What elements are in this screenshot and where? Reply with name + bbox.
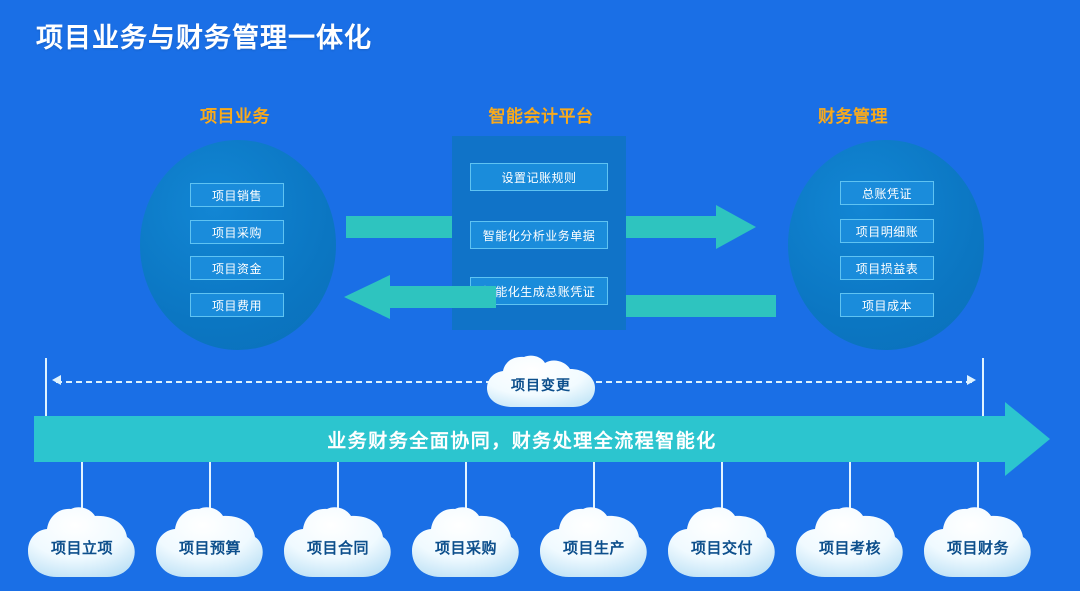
chip-set-bookkeeping-rules[interactable]: 设置记账规则 <box>470 163 608 191</box>
project-change-cloud[interactable]: 项目变更 <box>483 355 599 409</box>
lifecycle-cloud-procurement[interactable]: 项目采购 <box>409 505 523 579</box>
chip-project-sales[interactable]: 项目销售 <box>190 183 284 207</box>
chip-general-ledger-voucher[interactable]: 总账凭证 <box>840 181 934 205</box>
lifecycle-cloud-initiation[interactable]: 项目立项 <box>25 505 139 579</box>
chip-project-income-statement[interactable]: 项目损益表 <box>840 256 934 280</box>
chip-project-funds[interactable]: 项目资金 <box>190 256 284 280</box>
chip-project-expense[interactable]: 项目费用 <box>190 293 284 317</box>
project-change-label: 项目变更 <box>483 355 599 409</box>
chip-project-procurement[interactable]: 项目采购 <box>190 220 284 244</box>
lifecycle-cloud-finance[interactable]: 项目财务 <box>921 505 1035 579</box>
lifecycle-cloud-label: 项目交付 <box>665 505 779 579</box>
chip-project-cost[interactable]: 项目成本 <box>840 293 934 317</box>
lifecycle-cloud-delivery[interactable]: 项目交付 <box>665 505 779 579</box>
project-business-circle <box>140 140 336 350</box>
lifecycle-cloud-budget[interactable]: 项目预算 <box>153 505 267 579</box>
page-title: 项目业务与财务管理一体化 <box>36 16 372 55</box>
lifecycle-cloud-label: 项目采购 <box>409 505 523 579</box>
dashed-arrowhead-right-icon <box>967 375 976 385</box>
lifecycle-cloud-label: 项目财务 <box>921 505 1035 579</box>
lifecycle-cloud-label: 项目预算 <box>153 505 267 579</box>
diagram-canvas: 项目业务与财务管理一体化 项目业务 项目销售 项目采购 项目资金 项目费用 智能… <box>0 0 1080 591</box>
flow-arrowhead-left-icon <box>344 275 390 319</box>
financial-management-circle <box>788 140 984 350</box>
flow-arrow-platform-to-business <box>390 286 496 308</box>
flow-arrow-business-to-platform <box>346 216 452 238</box>
section-heading-project-business: 项目业务 <box>155 102 315 127</box>
chip-project-subsidiary-ledger[interactable]: 项目明细账 <box>840 219 934 243</box>
section-heading-financial-management: 财务管理 <box>770 102 936 127</box>
lifecycle-cloud-production[interactable]: 项目生产 <box>537 505 651 579</box>
banner-arrowhead-icon <box>1005 402 1050 476</box>
chip-analyze-business-documents[interactable]: 智能化分析业务单据 <box>470 221 608 249</box>
lifecycle-cloud-contract[interactable]: 项目合同 <box>281 505 395 579</box>
dashed-arrowhead-left-icon <box>52 375 61 385</box>
lifecycle-cloud-label: 项目考核 <box>793 505 907 579</box>
flow-arrowhead-right-icon <box>716 205 756 249</box>
collaboration-banner-text: 业务财务全面协同，财务处理全流程智能化 <box>34 416 1010 462</box>
span-tick-left <box>45 358 47 416</box>
lifecycle-cloud-label: 项目生产 <box>537 505 651 579</box>
lifecycle-cloud-label: 项目立项 <box>25 505 139 579</box>
lifecycle-cloud-assessment[interactable]: 项目考核 <box>793 505 907 579</box>
span-tick-right <box>982 358 984 416</box>
section-heading-smart-accounting-platform: 智能会计平台 <box>458 102 624 127</box>
flow-arrow-finance-to-platform <box>626 295 776 317</box>
lifecycle-cloud-label: 项目合同 <box>281 505 395 579</box>
